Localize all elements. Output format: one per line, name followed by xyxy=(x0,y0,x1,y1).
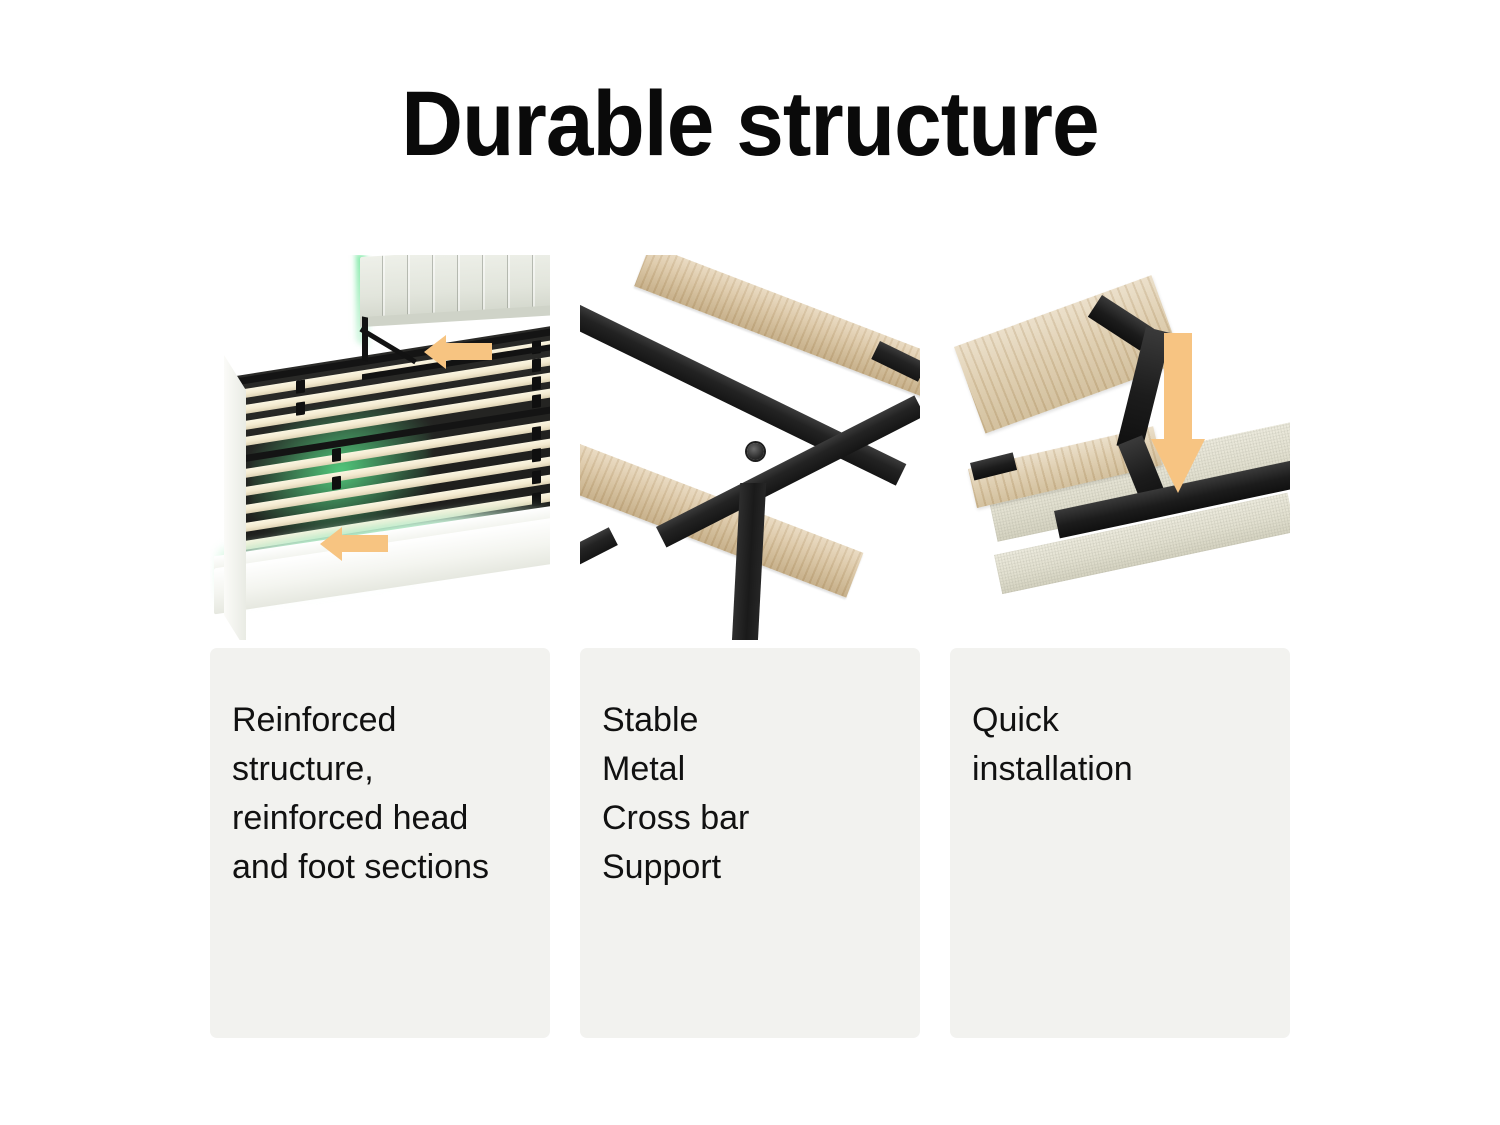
caption-line: Cross bar xyxy=(602,794,900,843)
caption-line: Metal xyxy=(602,745,900,794)
metal-cross-bar-joint-photo xyxy=(580,255,920,640)
frame-side-rail xyxy=(224,355,246,640)
page-title: Durable structure xyxy=(53,74,1448,174)
slat-clip xyxy=(532,358,541,372)
caption-line: and foot sections xyxy=(232,843,530,892)
feature-column-quick-installation: Quick installation xyxy=(950,255,1290,1045)
reinforcement-bracket-vertical xyxy=(362,316,368,361)
slat-clip xyxy=(532,470,541,484)
slat-clip xyxy=(532,376,541,390)
caption-line: installation xyxy=(972,745,1270,794)
caption-line: Reinforced xyxy=(232,696,530,745)
caption-line: Support xyxy=(602,843,900,892)
slat-clip xyxy=(296,379,305,393)
caption-line: Quick xyxy=(972,696,1270,745)
slat-clip xyxy=(332,476,341,490)
center-bolt xyxy=(747,443,764,460)
slat-clip xyxy=(532,426,541,440)
feature-columns: Reinforced structure, reinforced head an… xyxy=(210,255,1290,1045)
caption-line: Stable xyxy=(602,696,900,745)
feature-column-reinforced-structure: Reinforced structure, reinforced head an… xyxy=(210,255,550,1045)
slat-clip xyxy=(532,448,541,462)
caption-line: reinforced head xyxy=(232,794,530,843)
slat-clip xyxy=(296,401,305,415)
slat-bracket-installation-photo xyxy=(950,255,1290,640)
caption-panel-stable-metal-cross-bar: Stable Metal Cross bar Support xyxy=(580,648,920,1038)
caption-panel-reinforced-structure: Reinforced structure, reinforced head an… xyxy=(210,648,550,1038)
feature-column-stable-metal-cross-bar: Stable Metal Cross bar Support xyxy=(580,255,920,1045)
led-bed-frame-with-slats-photo xyxy=(210,255,550,640)
slat-clip xyxy=(332,448,341,462)
caption-panel-quick-installation: Quick installation xyxy=(950,648,1290,1038)
caption-line: structure, xyxy=(232,745,530,794)
slat-clip xyxy=(532,394,541,408)
wood-slat xyxy=(634,255,920,404)
metal-bar-stub xyxy=(580,527,618,567)
